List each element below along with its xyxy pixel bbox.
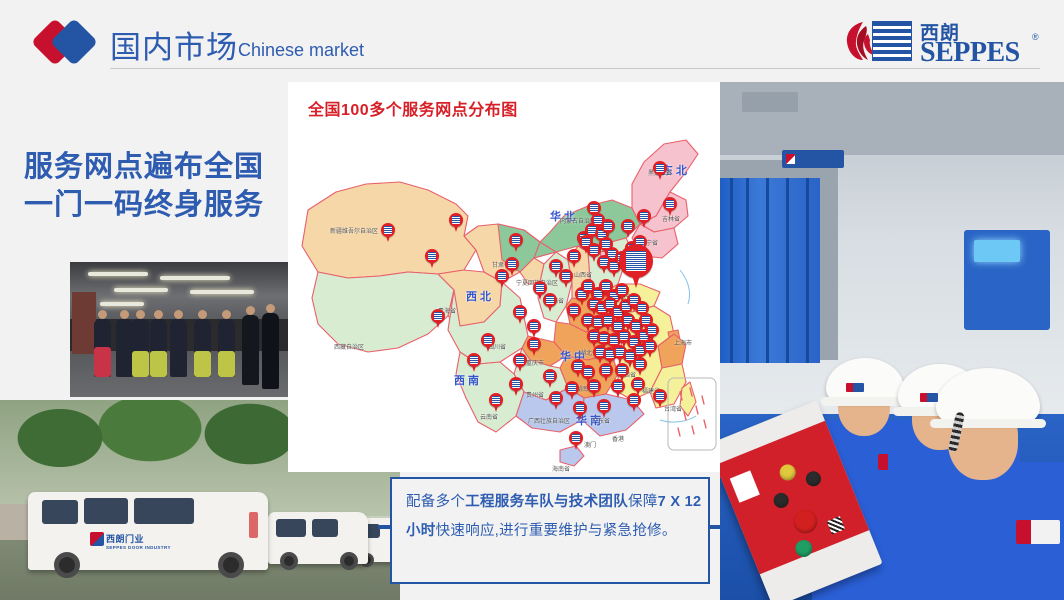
page-title-en: Chinese market	[238, 40, 364, 60]
callout-seg-3: 保障	[628, 494, 658, 510]
map-pin-seppes-icon	[587, 379, 601, 398]
province-label: 广西壮族自治区	[528, 416, 570, 425]
callout-seg-1: 配备多个	[406, 494, 465, 510]
map-pin-seppes-icon	[509, 377, 523, 396]
page-title: 国内市场Chinese market	[110, 22, 364, 67]
map-title: 全国100多个服务网点分布图	[308, 96, 518, 120]
map-pin-seppes-icon	[543, 293, 557, 312]
headline-line-1: 服务网点遍布全国	[24, 148, 294, 186]
map-pin-seppes-icon	[527, 319, 541, 338]
province-label: 西藏自治区	[334, 342, 364, 351]
province-label: 贵州省	[526, 390, 544, 399]
map-pin-seppes-icon	[509, 233, 523, 252]
map-pin-seppes-icon	[489, 393, 503, 412]
map-pin-seppes-icon	[637, 209, 651, 228]
province-label: 山西省	[574, 270, 592, 279]
province-label: 重庆市	[526, 358, 544, 367]
headline: 服务网点遍布全国 一门一码终身服务	[24, 148, 294, 224]
service-fleet-callout: 配备多个工程服务车队与技术团队保障7 X 12小时快速响应,进行重要维护与紧急抢…	[390, 477, 710, 584]
province-label: 上海市	[674, 338, 692, 347]
callout-tab-left	[378, 525, 390, 529]
map-pin-seppes-icon	[597, 399, 611, 418]
slide-header: 国内市场Chinese market 西朗 SEPPES ®	[0, 0, 1064, 78]
province-label: 澳门	[584, 440, 596, 449]
map-pin-seppes-icon	[627, 393, 641, 412]
map-pin-seppes-icon	[549, 391, 563, 410]
region-label-southwest: 西南	[454, 372, 482, 388]
map-pin-seppes-icon	[467, 353, 481, 372]
map-pin-seppes-icon	[663, 197, 677, 216]
map-pin-seppes-icon	[621, 219, 635, 238]
map-pin-seppes-icon	[495, 269, 509, 288]
double-diamond-logo-icon	[38, 22, 110, 64]
callout-seg-5: 快速响应,进行重要维护与紧急抢修。	[436, 523, 677, 539]
province-label: 云南省	[480, 412, 498, 421]
header-divider	[110, 68, 1040, 69]
lead-service-van: 西朗门业 SEPPES DOOR INDUSTRY	[28, 492, 268, 570]
map-pin-seppes-icon	[601, 219, 615, 238]
map-pin-seppes-icon	[653, 389, 667, 408]
service-network-map-panel: 全国100多个服务网点分布图	[288, 82, 720, 472]
province-label: 新疆维吾尔自治区	[330, 226, 378, 235]
map-pin-seppes-icon	[431, 309, 445, 328]
callout-seg-2: 工程服务车队与技术团队	[465, 494, 628, 510]
map-pin-seppes-icon	[425, 249, 439, 268]
callout-text: 配备多个工程服务车队与技术团队保障7 X 12小时快速响应,进行重要维护与紧急抢…	[406, 488, 702, 546]
van-lion-icon	[90, 532, 104, 546]
door-sign-icon	[782, 150, 844, 168]
map-pin-seppes-icon	[633, 357, 647, 376]
map-pin-seppes-icon	[573, 401, 587, 420]
map-pin-seppes-icon	[611, 379, 625, 398]
map-pin-seppes-icon	[449, 213, 463, 232]
region-label-northwest: 西北	[466, 288, 494, 304]
map-pin-seppes-icon	[565, 381, 579, 400]
map-pin-seppes-icon	[481, 333, 495, 352]
map-pin-seppes-icon	[559, 269, 573, 288]
map-pin-seppes-icon	[643, 339, 657, 358]
map-pin-seppes-icon	[381, 223, 395, 242]
map-pin-seppes-icon	[569, 431, 583, 450]
wall-control-panel	[964, 230, 1050, 330]
map-pin-seppes-icon	[543, 369, 557, 388]
headline-line-2: 一门一码终身服务	[24, 186, 294, 224]
striped-shield-icon	[872, 21, 912, 61]
map-pin-seppes-icon	[513, 305, 527, 324]
staff-training-photo	[70, 262, 288, 397]
brand-name-en: SEPPES	[920, 37, 1020, 69]
registered-mark: ®	[1032, 32, 1039, 42]
china-map: 东北 华北 西北 西南 华中 华南 新疆维吾尔自治区 西藏自治区 青海省 甘肃省…	[288, 120, 720, 472]
slide-root: 国内市场Chinese market 西朗 SEPPES ® 服务网点遍布全国 …	[0, 0, 1064, 600]
page-title-cn: 国内市场	[110, 30, 238, 65]
map-pin-seppes-icon	[653, 161, 667, 180]
province-label: 海南省	[552, 464, 570, 473]
map-pin-highlighted-icon	[619, 244, 653, 288]
map-pin-seppes-icon	[527, 337, 541, 356]
map-pin-seppes-icon	[513, 353, 527, 372]
technicians-inspecting-control-panel-photo	[720, 82, 1064, 600]
province-label: 香港	[612, 434, 624, 443]
seppes-brand-logo: 西朗 SEPPES ®	[842, 18, 1042, 66]
van-brand-text: 西朗门业 SEPPES DOOR INDUSTRY	[106, 532, 171, 550]
